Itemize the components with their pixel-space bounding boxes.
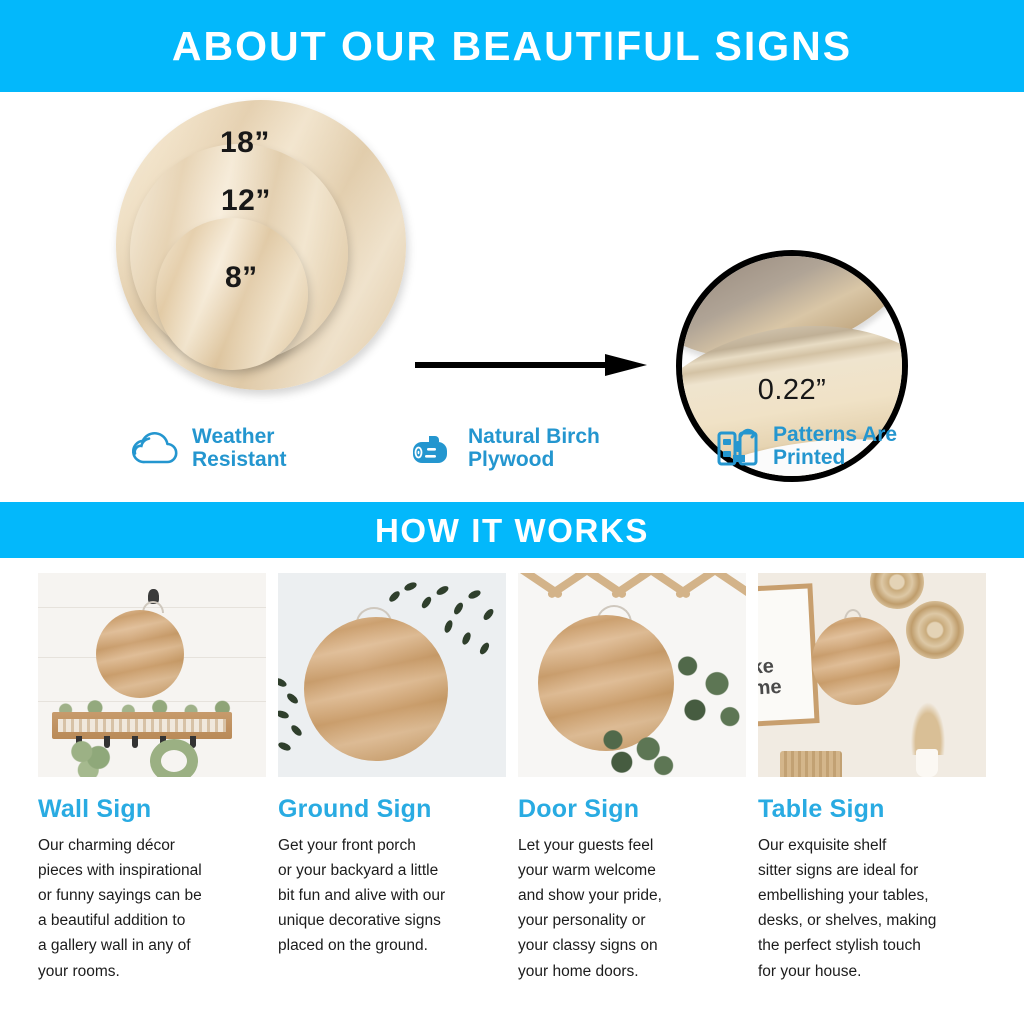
card-door-sign: Door Sign Let your guests feel your warm… (518, 573, 746, 984)
pampas-grass (906, 691, 950, 755)
sizes-section: 18” 12” 8” 0.22” (0, 92, 1024, 402)
thickness-label: 0.22” (682, 374, 902, 407)
leaf-branch (278, 673, 332, 769)
printer-icon (716, 425, 762, 469)
framed-art: ke me (758, 583, 820, 727)
arrow-right-icon (415, 354, 647, 376)
woven-basket-box (780, 751, 842, 777)
card-wall-sign-body: Our charming décor pieces with inspirati… (38, 833, 266, 984)
feature-natural-birch-plywood-label: Natural Birch Plywood (468, 426, 600, 471)
feature-natural-birch-plywood: Natural Birch Plywood (407, 426, 600, 471)
wood-sign-disc (812, 617, 900, 705)
card-door-sign-photo (518, 573, 746, 777)
shelf-lace-trim (58, 719, 226, 732)
card-table-sign-body: Our exquisite shelf sitter signs are ide… (758, 833, 986, 984)
wood-sign-disc (96, 610, 184, 698)
features-row: Weather Resistant Natural Birch Plywood … (0, 402, 1024, 494)
card-ground-sign-body: Get your front porch or your backyard a … (278, 833, 506, 959)
card-ground-sign-photo (278, 573, 506, 777)
cloud-icon (131, 429, 181, 469)
card-wall-sign-title: Wall Sign (38, 795, 266, 824)
size-disc-stack: 18” 12” 8” (108, 100, 408, 390)
leaf-branch (382, 579, 506, 661)
card-wall-sign-photo (38, 573, 266, 777)
card-ground-sign: Ground Sign Get your front porch or your… (278, 573, 506, 984)
feature-weather-resistant-label: Weather Resistant (192, 426, 287, 471)
card-door-sign-body: Let your guests feel your warm welcome a… (518, 833, 746, 984)
arrow-shaft (415, 362, 611, 368)
log-icon (407, 429, 457, 469)
feature-patterns-are-printed: Patterns Are Printed (716, 424, 897, 469)
how-it-works-banner-title: HOW IT WORKS (375, 514, 649, 547)
arrow-head (605, 354, 647, 376)
framed-art-text: ke me (758, 656, 782, 699)
woven-basket (870, 573, 924, 609)
card-table-sign-photo: ke me (758, 573, 986, 777)
size-label-12in: 12” (221, 184, 271, 218)
wreath (150, 739, 198, 777)
card-table-sign-title: Table Sign (758, 795, 986, 824)
eucalyptus-branch (580, 723, 690, 777)
feature-weather-resistant: Weather Resistant (131, 426, 287, 471)
size-label-8in: 8” (225, 261, 258, 295)
card-ground-sign-title: Ground Sign (278, 795, 506, 824)
sign-usage-cards: Wall Sign Our charming décor pieces with… (0, 558, 1024, 984)
size-label-18in: 18” (220, 126, 270, 160)
feature-patterns-are-printed-label: Patterns Are Printed (773, 424, 897, 469)
card-table-sign: ke me Table Sign Our exquisite shelf sit… (758, 573, 986, 984)
about-banner: ABOUT OUR BEAUTIFUL SIGNS (0, 0, 1024, 92)
card-wall-sign: Wall Sign Our charming décor pieces with… (38, 573, 266, 984)
woven-basket (906, 601, 964, 659)
accordion-rack (518, 575, 746, 609)
how-it-works-banner: HOW IT WORKS (0, 502, 1024, 558)
about-banner-title: ABOUT OUR BEAUTIFUL SIGNS (172, 26, 852, 67)
hanging-plant (68, 739, 114, 777)
card-door-sign-title: Door Sign (518, 795, 746, 824)
vase (916, 749, 938, 777)
